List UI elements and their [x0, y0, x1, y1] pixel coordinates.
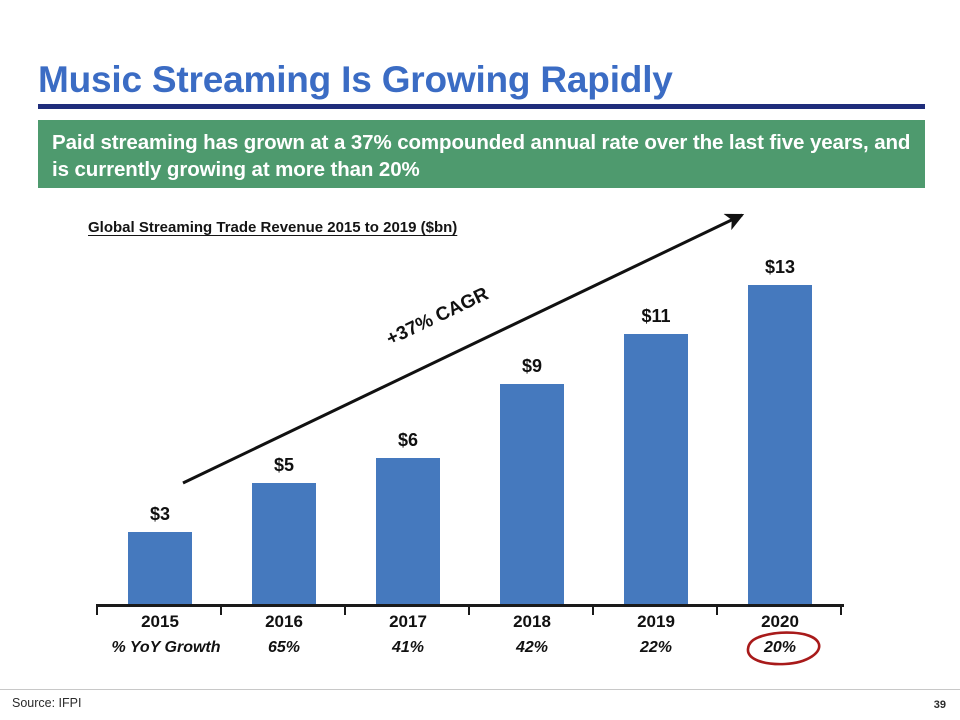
chart-bar — [252, 483, 316, 606]
x-axis-category-label: 2017 — [346, 612, 470, 632]
bar-value-label: $6 — [346, 430, 470, 451]
title-divider — [38, 104, 925, 109]
bar-value-label: $5 — [222, 455, 346, 476]
chart-bar — [376, 458, 440, 606]
growth-value: 22% — [594, 639, 718, 657]
bar-value-label: $13 — [718, 257, 842, 278]
bar-slot: $3 — [98, 200, 222, 606]
chart-bar — [748, 285, 812, 606]
x-axis-tick — [96, 607, 98, 615]
bar-slot: $6 — [346, 200, 470, 606]
chart-bar — [128, 532, 192, 606]
growth-value: 65% — [222, 639, 346, 657]
page-title: Music Streaming Is Growing Rapidly — [38, 58, 938, 102]
bar-value-label: $3 — [98, 504, 222, 525]
growth-value: 41% — [346, 639, 470, 657]
growth-value: 20% — [718, 639, 842, 657]
chart-bar — [624, 334, 688, 606]
source-note: Source: IFPI — [12, 696, 81, 710]
chart-bar — [500, 384, 564, 606]
x-axis-category-label: 2018 — [470, 612, 594, 632]
bar-value-label: $9 — [470, 356, 594, 377]
footer-divider — [0, 689, 960, 690]
bar-slot: $11 — [594, 200, 718, 606]
slide-canvas: Music Streaming Is Growing Rapidly Paid … — [0, 0, 960, 720]
growth-row-label: % YoY Growth — [96, 639, 236, 657]
bar-slot: $5 — [222, 200, 346, 606]
bar-value-label: $11 — [594, 306, 718, 327]
x-axis-category-label: 2015 — [98, 612, 222, 632]
x-axis-category-label: 2016 — [222, 612, 346, 632]
page-number: 39 — [934, 699, 946, 711]
takeaway-text: Paid streaming has grown at a 37% compou… — [52, 129, 911, 183]
bar-slot: $13 — [718, 200, 842, 606]
x-axis-line — [96, 604, 844, 607]
x-axis-category-label: 2019 — [594, 612, 718, 632]
takeaway-banner: Paid streaming has grown at a 37% compou… — [38, 120, 925, 188]
x-axis-category-label: 2020 — [718, 612, 842, 632]
chart-plot-area: $3$5$6$9$11$13 — [98, 200, 840, 606]
x-axis-tick — [840, 607, 842, 615]
bar-slot: $9 — [470, 200, 594, 606]
growth-value: 42% — [470, 639, 594, 657]
